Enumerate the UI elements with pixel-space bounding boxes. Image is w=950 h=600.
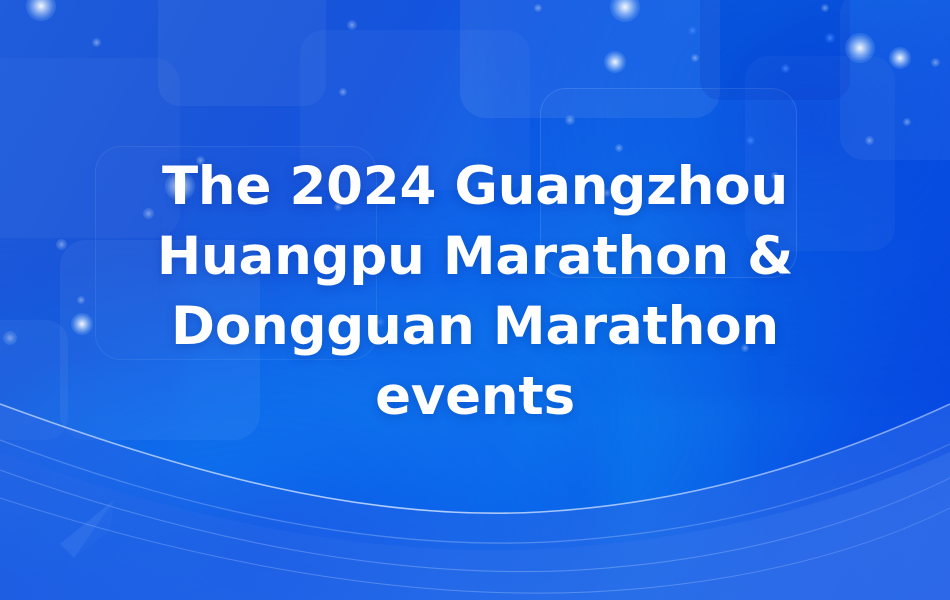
banner-hero: The 2024 Guangzhou Huangpu Marathon & Do… — [0, 0, 950, 600]
banner-title-line-4: events — [40, 362, 910, 432]
banner-title-line-3: Dongguan Marathon — [40, 292, 910, 362]
banner-title-line-1: The 2024 Guangzhou — [40, 152, 910, 222]
banner-title-line-2: Huangpu Marathon & — [40, 222, 910, 292]
banner-title: The 2024 Guangzhou Huangpu Marathon & Do… — [0, 152, 950, 432]
